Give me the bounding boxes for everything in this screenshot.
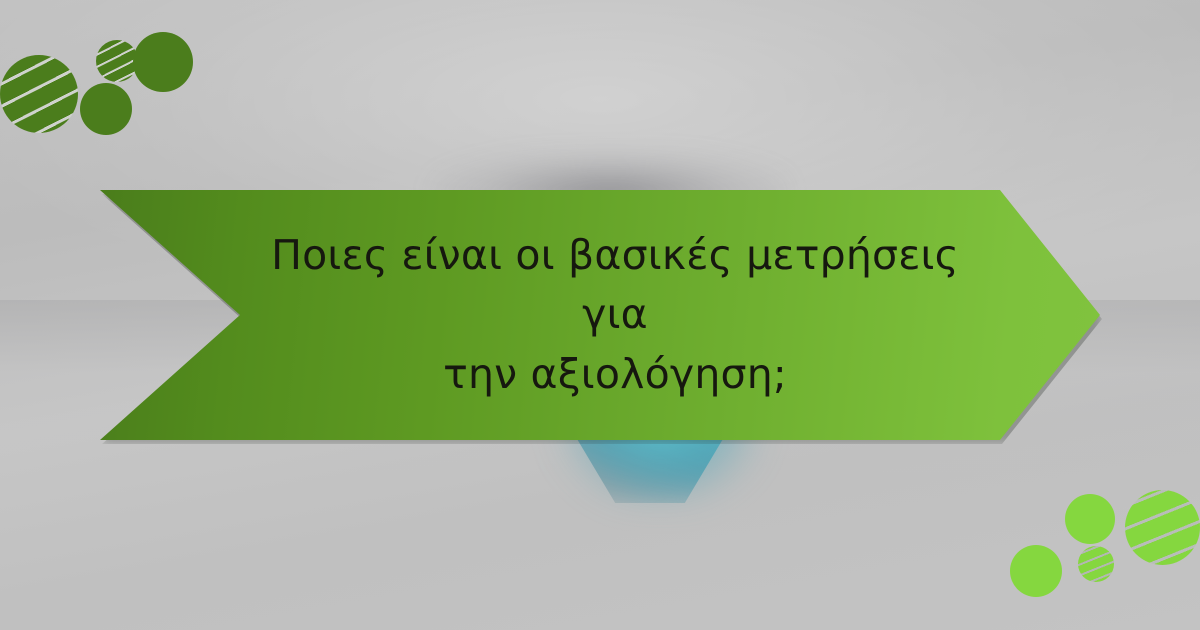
decor-circle-bottom-right-striped-small bbox=[1078, 546, 1114, 582]
headline-banner: Ποιες είναι οι βασικές μετρήσεις για την… bbox=[100, 190, 1100, 440]
decor-circle-bottom-right-solid-large bbox=[1065, 494, 1115, 544]
decor-circle-top-left-solid-small bbox=[80, 83, 132, 135]
banner-heading-text: Ποιες είναι οι βασικές μετρήσεις για την… bbox=[235, 226, 995, 403]
slide-canvas: Ποιες είναι οι βασικές μετρήσεις για την… bbox=[0, 0, 1200, 630]
banner-chevron-shape: Ποιες είναι οι βασικές μετρήσεις για την… bbox=[100, 190, 1100, 440]
decor-circle-bottom-right-striped-large bbox=[1125, 490, 1200, 565]
decor-circle-top-left-solid-large bbox=[133, 32, 193, 92]
decor-circle-bottom-right-solid-small bbox=[1010, 545, 1062, 597]
decor-circle-top-left-striped-small bbox=[96, 40, 138, 82]
decor-circle-top-left-striped-large bbox=[0, 55, 78, 133]
